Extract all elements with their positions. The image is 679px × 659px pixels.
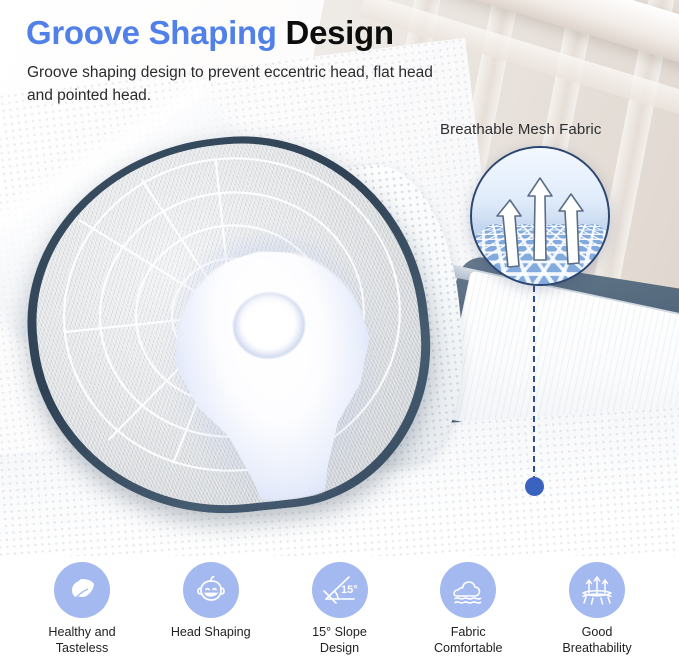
title-plain: Design bbox=[286, 14, 394, 51]
feature-label: Fabric Comfortable bbox=[434, 624, 503, 657]
up-arrow-icon bbox=[497, 200, 521, 267]
feature-item: Head Shaping bbox=[147, 562, 275, 640]
cloud-wave-icon bbox=[450, 574, 486, 606]
page-title: Groove Shaping Design bbox=[26, 16, 394, 51]
dashed-leader-line bbox=[533, 286, 535, 482]
feature-item: Good Breathability bbox=[533, 562, 661, 657]
mesh-callout-label: Breathable Mesh Fabric bbox=[440, 121, 670, 138]
feature-icon-badge bbox=[440, 562, 496, 618]
feature-icon-badge bbox=[183, 562, 239, 618]
angle-15-degree-icon: 15° bbox=[321, 573, 359, 607]
feature-label: Head Shaping bbox=[171, 624, 251, 640]
feature-row: Healthy and Tasteless Head Shaping bbox=[0, 556, 679, 659]
feature-icon-badge bbox=[54, 562, 110, 618]
feature-label: Healthy and Tasteless bbox=[48, 624, 115, 657]
feature-icon-badge bbox=[569, 562, 625, 618]
feature-item: 15° 15° Slope Design bbox=[276, 562, 404, 657]
leaf-icon bbox=[65, 573, 99, 607]
mesh-close-up-circle bbox=[470, 146, 610, 286]
page-subtitle: Groove shaping design to prevent eccentr… bbox=[27, 62, 457, 108]
baby-face-icon bbox=[193, 572, 229, 608]
breathable-layer-icon bbox=[579, 573, 615, 607]
up-arrow-icon bbox=[528, 178, 552, 260]
feature-label: Good Breathability bbox=[562, 624, 631, 657]
up-arrow-icon bbox=[559, 194, 583, 264]
leader-endpoint-dot bbox=[525, 477, 544, 496]
pillow-groove bbox=[162, 238, 391, 513]
feature-icon-badge: 15° bbox=[312, 562, 368, 618]
svg-text:15°: 15° bbox=[341, 584, 358, 596]
feature-item: Healthy and Tasteless bbox=[18, 562, 146, 657]
title-highlight: Groove Shaping bbox=[26, 14, 277, 51]
baby-pillow bbox=[28, 138, 458, 528]
feature-label: 15° Slope Design bbox=[312, 624, 367, 657]
feature-item: Fabric Comfortable bbox=[404, 562, 532, 657]
